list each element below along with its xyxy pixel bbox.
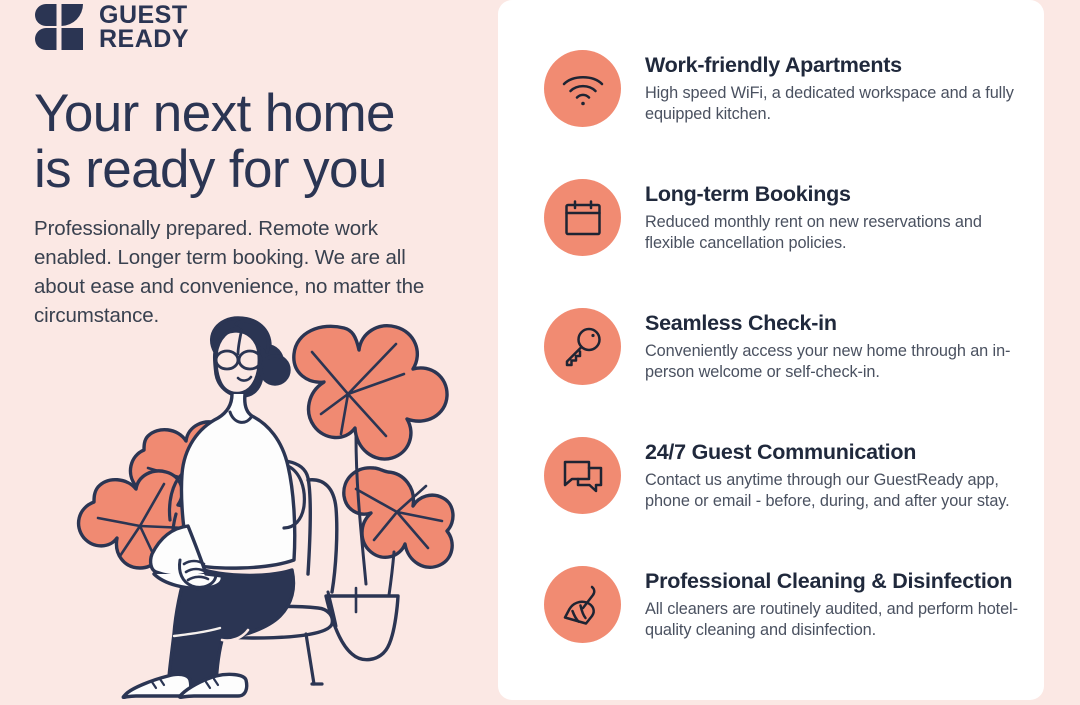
chat-bubbles-icon	[544, 437, 621, 514]
hero-panel: GUEST READY Your next home is ready for …	[0, 0, 498, 700]
feature-item-professional-cleaning[interactable]: Professional Cleaning & Disinfection All…	[544, 564, 1030, 643]
headline-line-1: Your next home	[34, 84, 395, 143]
feature-title: Long-term Bookings	[645, 181, 1027, 208]
feature-description: High speed WiFi, a dedicated workspace a…	[645, 83, 1027, 126]
feature-list: Work-friendly Apartments High speed WiFi…	[544, 48, 1030, 643]
feature-item-long-term-bookings[interactable]: Long-term Bookings Reduced monthly rent …	[544, 177, 1030, 256]
headline-line-2: is ready for you	[34, 140, 387, 199]
feature-title: Seamless Check-in	[645, 310, 1027, 337]
feature-text: 24/7 Guest Communication Contact us anyt…	[645, 435, 1027, 513]
feature-title: 24/7 Guest Communication	[645, 439, 1027, 466]
page-title: Your next home is ready for you	[34, 86, 474, 197]
hero-subcopy: Professionally prepared. Remote work ena…	[34, 214, 449, 330]
brand-name-line1: GUEST	[99, 3, 189, 27]
feature-item-work-friendly-apartments[interactable]: Work-friendly Apartments High speed WiFi…	[544, 48, 1030, 127]
features-card: Work-friendly Apartments High speed WiFi…	[498, 0, 1044, 700]
feature-description: Conveniently access your new home throug…	[645, 341, 1027, 384]
woman-with-laptop-illustration	[56, 316, 456, 700]
feature-description: All cleaners are routinely audited, and …	[645, 599, 1027, 642]
calendar-icon	[544, 179, 621, 256]
wifi-icon	[544, 50, 621, 127]
brand-name-line2: READY	[99, 27, 189, 51]
feature-description: Reduced monthly rent on new reservations…	[645, 212, 1027, 255]
guestready-squares-logo-icon	[34, 3, 86, 51]
feature-item-seamless-check-in[interactable]: Seamless Check-in Conveniently access yo…	[544, 306, 1030, 385]
key-icon	[544, 308, 621, 385]
feature-text: Seamless Check-in Conveniently access yo…	[645, 306, 1027, 384]
feature-description: Contact us anytime through our GuestRead…	[645, 470, 1027, 513]
feature-title: Work-friendly Apartments	[645, 52, 1027, 79]
feature-text: Long-term Bookings Reduced monthly rent …	[645, 177, 1027, 255]
feature-text: Professional Cleaning & Disinfection All…	[645, 564, 1027, 642]
brand-logo[interactable]: GUEST READY	[34, 3, 189, 52]
brand-name: GUEST READY	[99, 3, 189, 52]
feature-text: Work-friendly Apartments High speed WiFi…	[645, 48, 1027, 126]
broom-icon	[544, 566, 621, 643]
feature-title: Professional Cleaning & Disinfection	[645, 568, 1027, 595]
feature-item-guest-communication[interactable]: 24/7 Guest Communication Contact us anyt…	[544, 435, 1030, 514]
